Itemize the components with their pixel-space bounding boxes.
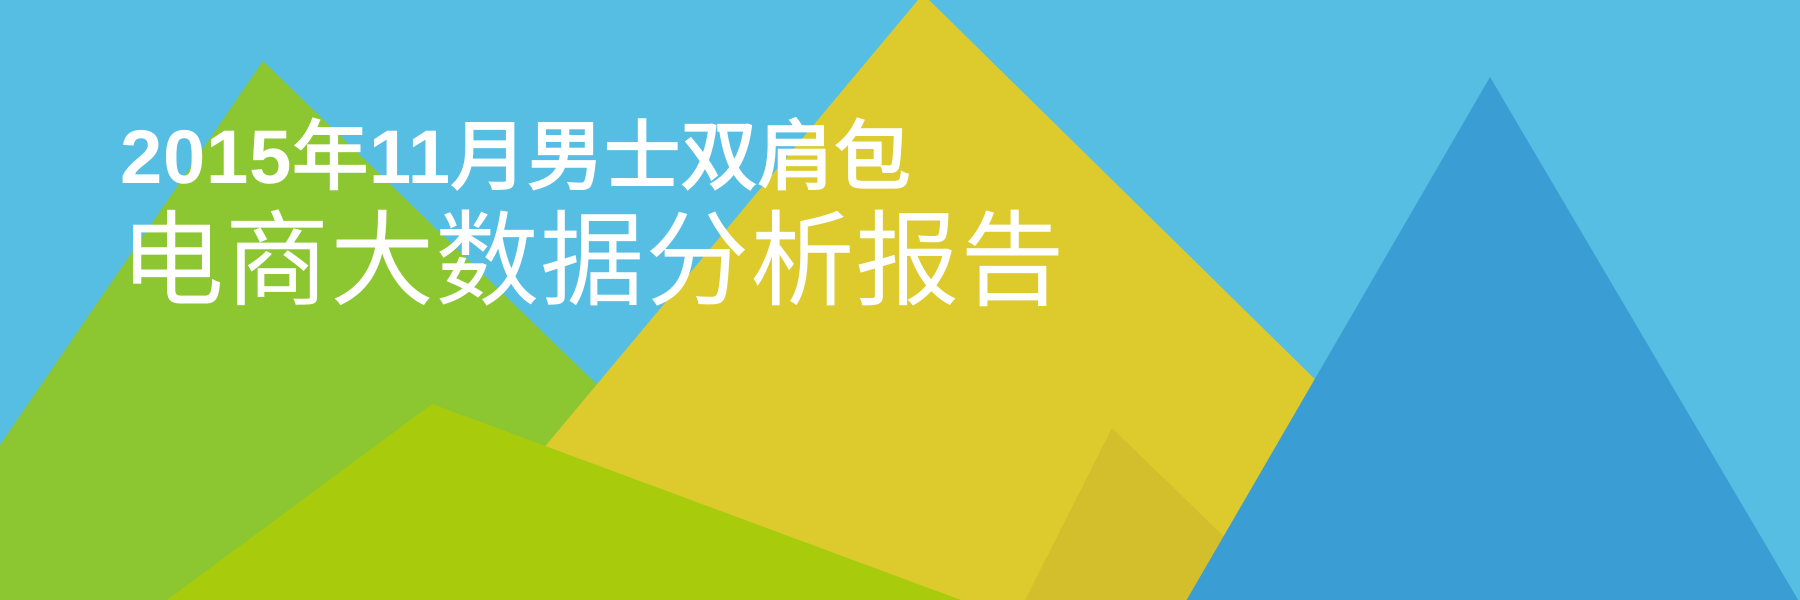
banner-background-artwork [0,0,1800,600]
title-banner: 2015年11月男士双肩包 电商大数据分析报告 [0,0,1800,600]
